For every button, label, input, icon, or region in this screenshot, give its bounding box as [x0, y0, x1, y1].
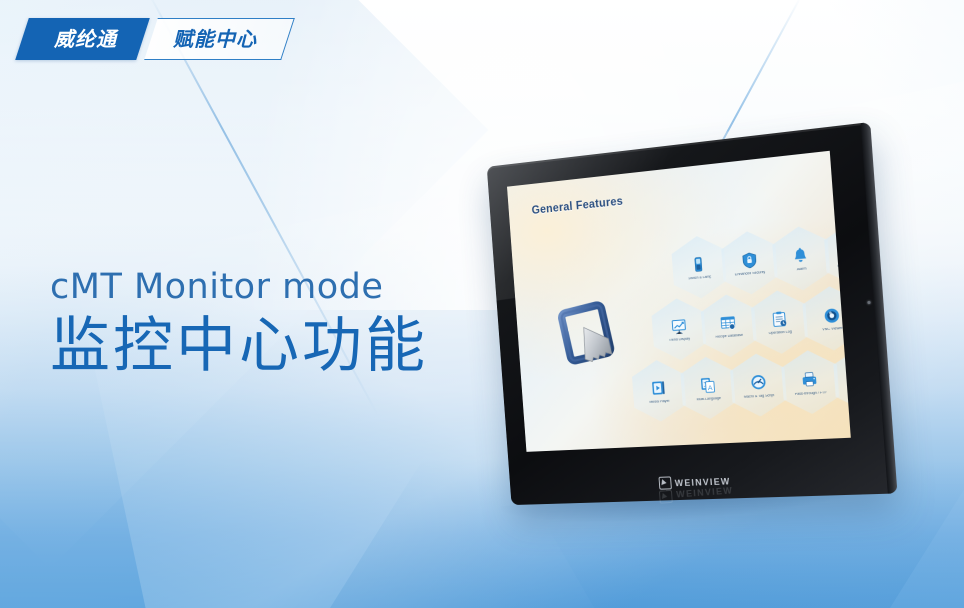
weinview-mark-reflection-icon [659, 490, 673, 504]
feature-label: Macro & Tag Script [744, 394, 775, 399]
screen-title: General Features [531, 196, 623, 217]
hmi-device-group: General Features [455, 120, 925, 540]
promo-banner: 威纶通 赋能中心 cMT Monitor mode 监控中心功能 General… [0, 0, 964, 608]
feature-tile[interactable]: Alarm [771, 224, 831, 292]
printer-ftp-icon [799, 368, 821, 390]
bell-icon [790, 244, 812, 266]
feature-tile[interactable]: Recipe Database [700, 292, 758, 358]
feature-label: Operation Log [769, 331, 792, 336]
brand-badge: 威纶通 赋能中心 [22, 18, 288, 60]
page-title: cMT Monitor mode 监控中心功能 [50, 268, 428, 380]
feature-tile[interactable]: Operation Log [750, 288, 810, 355]
feature-label: VNC Viewer [822, 327, 843, 332]
weinview-mark-icon [658, 476, 671, 489]
feature-label: Recipe Database [716, 334, 744, 340]
feature-hex-grid: Switch & Lamp Enhanced Security [611, 220, 843, 420]
feature-tile[interactable]: 文A Multi-Language [679, 355, 737, 420]
feature-label: Enhanced Security [735, 271, 766, 277]
language-doc-icon: 文A [697, 375, 718, 396]
power-led-icon [867, 301, 870, 304]
badge-primary-label: 威纶通 [54, 29, 117, 49]
feature-tile[interactable]: Enhanced Security [720, 229, 779, 297]
media-play-icon [648, 378, 669, 399]
title-english: cMT Monitor mode [50, 268, 428, 307]
trend-chart-icon [668, 316, 689, 337]
gauge-meter-icon [747, 372, 769, 393]
badge-secondary-label: 赋能中心 [173, 29, 257, 49]
hmi-device: General Features [487, 122, 898, 505]
feature-tile[interactable]: System Setting [832, 345, 851, 413]
feature-tile[interactable]: Trend Display [650, 296, 707, 362]
feature-label: Multi-Touch Gesture [837, 262, 850, 269]
badge-secondary: 赋能中心 [144, 18, 295, 60]
feature-tile[interactable]: Multi-Touch Gesture [823, 219, 851, 288]
clipboard-clock-icon [768, 308, 790, 330]
feature-tile[interactable]: Pass-through / FTP [780, 349, 840, 416]
feature-label: Multi-Language [696, 397, 721, 402]
switch-lamp-icon [688, 253, 709, 275]
feature-tile[interactable]: Media Player [631, 358, 687, 422]
device-bezel: General Features [487, 122, 898, 505]
feature-tile[interactable]: VNC Viewer [801, 284, 851, 352]
feature-tile[interactable]: Switch & Lamp [670, 234, 728, 301]
bezel-right-edge [861, 122, 898, 494]
badge-primary: 威纶通 [15, 18, 150, 60]
title-chinese: 监控中心功能 [50, 313, 428, 380]
shield-lock-icon [738, 249, 760, 271]
feature-label: Alarm [797, 267, 807, 272]
feature-label: Switch & Lamp [688, 275, 712, 281]
feature-label: Media Player [649, 399, 669, 404]
feature-tile[interactable]: Macro & Tag Script [729, 352, 788, 418]
device-screen[interactable]: General Features [507, 150, 851, 451]
feature-label: Pass-through / FTP [795, 391, 827, 396]
eye-viewer-icon [820, 304, 842, 326]
feature-label: Trend Display [669, 338, 691, 343]
touch-hand-icon [842, 240, 851, 263]
database-table-icon [718, 312, 739, 334]
